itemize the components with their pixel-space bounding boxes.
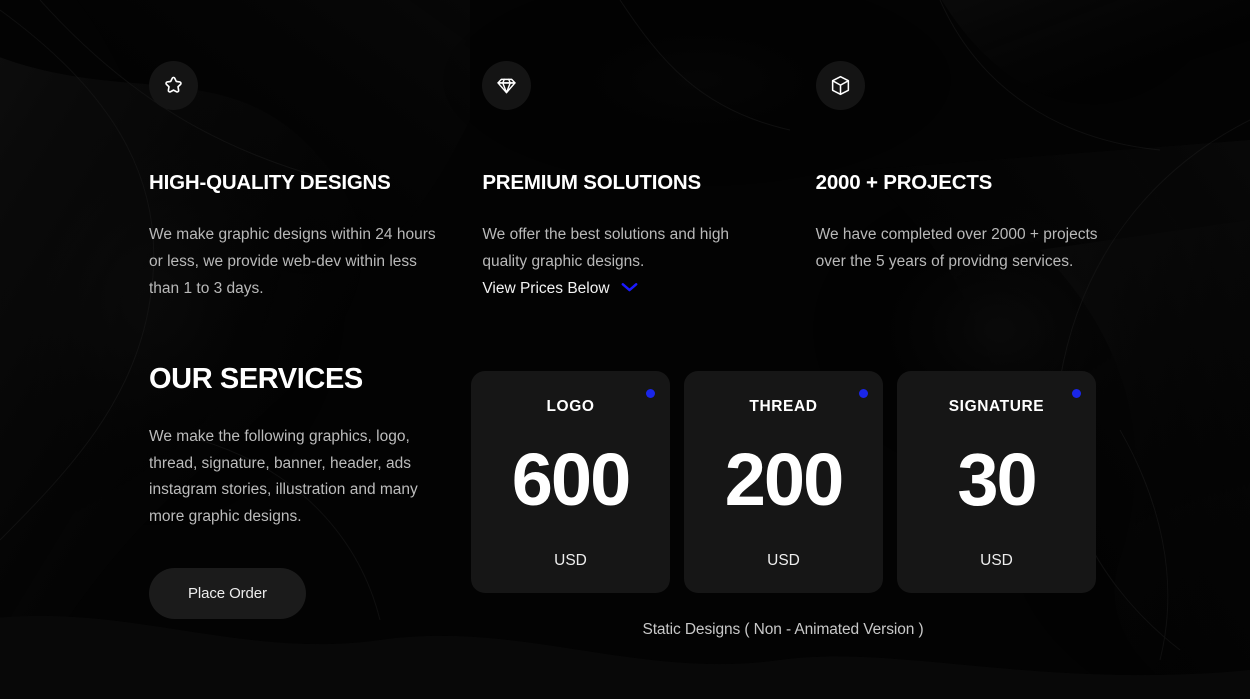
pricing-card-currency: USD (684, 552, 883, 570)
pricing-note: Static Designs ( Non - Animated Version … (0, 621, 1250, 639)
pricing-card-currency: USD (471, 552, 670, 570)
cube-icon-circle (816, 61, 865, 110)
feature-card-high-quality-designs: HIGH-QUALITY DESIGNS We make graphic des… (149, 61, 482, 302)
star-icon (162, 74, 185, 97)
pricing-card-price: 600 (512, 443, 629, 517)
view-prices-label: View Prices Below (482, 275, 609, 302)
chevron-down-icon (620, 275, 639, 302)
services-description: We make the following graphics, logo, th… (149, 424, 445, 530)
view-prices-link[interactable]: View Prices Below (482, 275, 638, 302)
feature-title: HIGH-QUALITY DESIGNS (149, 173, 482, 194)
diamond-icon (495, 74, 518, 97)
feature-description-text: We offer the best solutions and high qua… (482, 226, 729, 270)
feature-card-premium-solutions: PREMIUM SOLUTIONS We offer the best solu… (482, 61, 815, 302)
pricing-cards-row: LOGO 600 USD THREAD 200 USD SIGNATURE 30… (471, 371, 1096, 593)
feature-title: PREMIUM SOLUTIONS (482, 173, 815, 194)
pricing-card-price: 200 (725, 443, 842, 517)
feature-title: 2000 + PROJECTS (816, 173, 1149, 194)
services-heading: OUR SERVICES (149, 365, 449, 394)
our-services-block: OUR SERVICES We make the following graph… (149, 365, 449, 619)
place-order-button[interactable]: Place Order (149, 568, 306, 619)
diamond-icon-circle (482, 61, 531, 110)
pricing-card-label: SIGNATURE (949, 398, 1045, 416)
pricing-card-logo[interactable]: LOGO 600 USD (471, 371, 670, 593)
feature-description: We offer the best solutions and high qua… (482, 221, 772, 302)
status-dot (1072, 389, 1081, 398)
pricing-card-currency: USD (897, 552, 1096, 570)
feature-description: We make graphic designs within 24 hours … (149, 221, 439, 302)
page-root: HIGH-QUALITY DESIGNS We make graphic des… (0, 0, 1250, 699)
pricing-card-thread[interactable]: THREAD 200 USD (684, 371, 883, 593)
features-row: HIGH-QUALITY DESIGNS We make graphic des… (149, 61, 1149, 302)
status-dot (646, 389, 655, 398)
cube-icon (829, 74, 852, 97)
pricing-card-label: LOGO (546, 398, 594, 416)
feature-description: We have completed over 2000 + projects o… (816, 221, 1106, 275)
star-icon-circle (149, 61, 198, 110)
status-dot (859, 389, 868, 398)
pricing-card-price: 30 (957, 443, 1035, 517)
pricing-card-signature[interactable]: SIGNATURE 30 USD (897, 371, 1096, 593)
feature-card-2000-projects: 2000 + PROJECTS We have completed over 2… (816, 61, 1149, 302)
pricing-note-text: Static Designs ( Non - Animated Version … (642, 621, 923, 639)
pricing-card-label: THREAD (749, 398, 817, 416)
